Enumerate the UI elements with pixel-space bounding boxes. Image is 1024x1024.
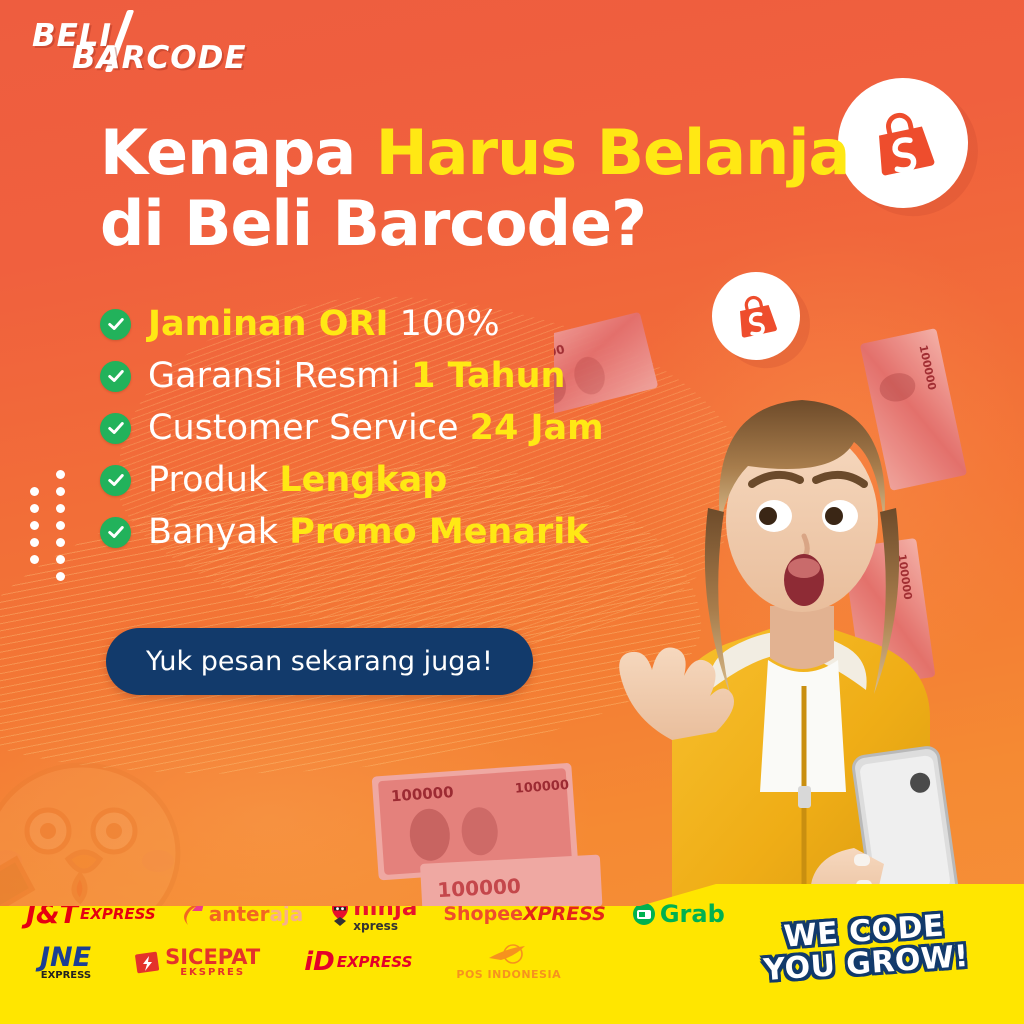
courier-logos: J&T EXPRESS anter aja: [0, 890, 700, 1020]
pos-indonesia-bird-icon: [487, 944, 531, 966]
courier-logo-anteraja: anter aja: [182, 894, 304, 934]
benefit-text: Customer Service 24 Jam: [148, 411, 604, 446]
courier-logo-sicepat: SICEPAT EKSPRES: [135, 942, 260, 982]
benefit-text: Jaminan ORI 100%: [148, 307, 500, 342]
svg-text:100000: 100000: [437, 874, 522, 902]
courier-logo-jnt: J&T EXPRESS: [26, 894, 156, 934]
list-item: Banyak Promo Menarik: [100, 506, 720, 558]
benefits-list: Jaminan ORI 100% Garansi Resmi 1 Tahun C…: [100, 298, 720, 558]
courier-logo-jne: JNE EXPRESS: [40, 942, 91, 982]
courier-logo-id-express: iD EXPRESS: [304, 942, 412, 982]
headline: Kenapa Harus Belanja di Beli Barcode?: [100, 118, 860, 259]
check-circle-icon: [100, 517, 131, 548]
benefit-text: Produk Lengkap: [148, 463, 447, 498]
anteraja-arrow-icon: [182, 901, 206, 927]
order-now-cta-button[interactable]: Yuk pesan sekarang juga!: [106, 628, 533, 695]
courier-row-2: JNE EXPRESS SICEPAT EKSPRES iD: [0, 938, 700, 986]
svg-text:100000: 100000: [895, 553, 914, 601]
check-circle-icon: [100, 309, 131, 340]
foreground-banknotes: 100000 100000 100000: [368, 760, 628, 910]
beli-barcode-logo[interactable]: BELI BARCODE: [24, 12, 274, 72]
logo-line-2: BARCODE: [72, 40, 247, 76]
ninja-pin-icon: [329, 899, 351, 929]
dot-grid-decoration: [30, 470, 76, 585]
grab-express-icon: [632, 902, 656, 926]
headline-plain-text: Kenapa: [100, 116, 376, 189]
headline-highlight-text: Harus Belanja: [376, 116, 850, 189]
headline-line-1: Kenapa Harus Belanja: [100, 118, 860, 189]
benefit-text: Garansi Resmi 1 Tahun: [148, 359, 565, 394]
svg-text:100000: 100000: [916, 344, 938, 392]
check-circle-icon: [100, 465, 131, 496]
shopee-bag-icon: [857, 97, 950, 190]
check-circle-icon: [100, 361, 131, 392]
benefit-text: Banyak Promo Menarik: [148, 515, 589, 550]
courier-logo-grab: Grab: [632, 894, 725, 934]
list-item: Customer Service 24 Jam: [100, 402, 720, 454]
promo-poster: BELI BARCODE: [0, 0, 1024, 1024]
list-item: Jaminan ORI 100%: [100, 298, 720, 350]
list-item: Produk Lengkap: [100, 454, 720, 506]
tagline-we-code-you-grow: WE CODE YOU GROW!: [738, 907, 992, 988]
sicepat-bolt-icon: [135, 949, 161, 975]
shopee-bag-icon: [725, 285, 787, 347]
headline-line-2: di Beli Barcode?: [100, 189, 860, 260]
list-item: Garansi Resmi 1 Tahun: [100, 350, 720, 402]
check-circle-icon: [100, 413, 131, 444]
courier-logo-pos-indonesia: POS INDONESIA: [456, 942, 561, 982]
